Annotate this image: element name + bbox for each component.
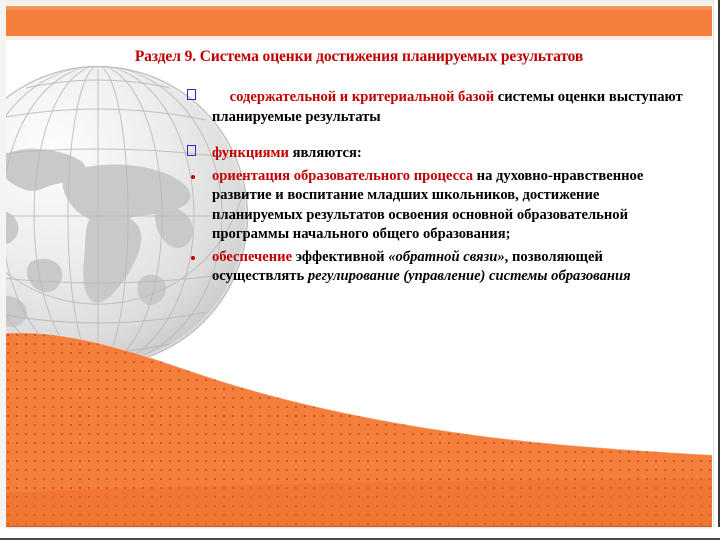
sub-2-black-run-1: эффективной bbox=[292, 249, 388, 265]
sub-1-red-run: ориентация образовательного процесса bbox=[212, 168, 473, 184]
bullet-2-black-run: являются: bbox=[289, 145, 362, 161]
page-title: Раздел 9. Система оценки достижения план… bbox=[6, 48, 712, 66]
sub-2-red-run: обеспечение bbox=[212, 249, 292, 265]
round-dot-bullet-icon bbox=[191, 256, 195, 260]
orange-wave-graphic bbox=[6, 297, 712, 527]
bullet-item-1: содержательной и критериальной базой сис… bbox=[186, 88, 686, 127]
orange-header-band bbox=[6, 6, 712, 39]
header-band-baseline bbox=[6, 36, 712, 40]
sub-2-italic-run-2: регулирование (управление) системы образ… bbox=[308, 268, 631, 284]
content-body: содержательной и критериальной базой сис… bbox=[186, 88, 686, 287]
spacer bbox=[186, 127, 686, 144]
slide-border-right bbox=[713, 0, 720, 540]
hollow-square-bullet-icon bbox=[187, 145, 196, 156]
sub-2-italic-run-1: «обратной связи» bbox=[388, 249, 504, 265]
hollow-square-bullet-icon bbox=[187, 89, 196, 100]
slide-border-top bbox=[0, 0, 720, 5]
bullet-item-2: функциями являются: bbox=[186, 144, 686, 164]
bullet-2-red-run: функциями bbox=[212, 145, 289, 161]
sub-bullet-item-2: обеспечение эффективной «обратной связи»… bbox=[186, 248, 686, 287]
bullet-1-red-run: содержательной и критериальной базой bbox=[226, 89, 494, 105]
round-dot-bullet-icon bbox=[191, 175, 195, 179]
slide-border-left bbox=[0, 0, 6, 540]
header-band-highlight bbox=[6, 6, 712, 10]
slide-bottom-shadow bbox=[6, 526, 712, 529]
sub-bullet-item-1: ориентация образовательного процесса на … bbox=[186, 167, 686, 245]
slide: Раздел 9. Система оценки достижения план… bbox=[0, 0, 720, 540]
